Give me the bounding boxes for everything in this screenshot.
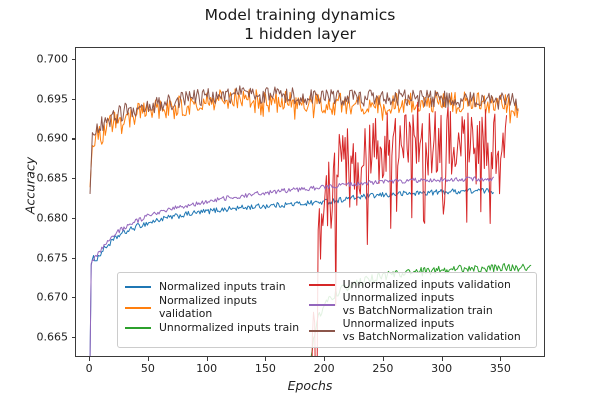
x-tick-label: 0 [66, 362, 112, 375]
legend-label: Unnormalized inputs vs BatchNormalizatio… [343, 318, 521, 343]
legend-color-swatch [309, 304, 335, 306]
legend-color-swatch [309, 284, 335, 286]
y-tick-label: 0.685 [22, 172, 68, 185]
legend-entry[interactable]: Unnormalized inputs train [125, 322, 309, 334]
x-tick-label: 150 [242, 362, 288, 375]
legend-label: Normalized inputs train [159, 281, 286, 293]
chart-title: Model training dynamics 1 hidden layer [0, 6, 600, 44]
legend-entry[interactable]: Unnormalized inputs vs BatchNormalizatio… [309, 292, 529, 317]
legend-label: Unnormalized inputs vs BatchNormalizatio… [343, 292, 493, 317]
legend-entry[interactable]: Normalized inputs validation [125, 295, 309, 320]
legend-color-swatch [125, 307, 151, 309]
x-tick-label: 200 [301, 362, 347, 375]
x-tick-mark [383, 357, 384, 361]
y-tick-label: 0.680 [22, 211, 68, 224]
y-tick-label: 0.675 [22, 251, 68, 264]
x-tick-label: 350 [477, 362, 523, 375]
x-tick-label: 50 [125, 362, 171, 375]
legend-column-right: Unnormalized inputs validationUnnormaliz… [309, 278, 529, 342]
legend-column-left: Normalized inputs trainNormalized inputs… [125, 278, 309, 342]
legend-entry[interactable]: Unnormalized inputs vs BatchNormalizatio… [309, 318, 529, 343]
chart-title-line2: 1 hidden layer [0, 25, 600, 44]
x-tick-label: 250 [360, 362, 406, 375]
y-tick-label: 0.665 [22, 331, 68, 344]
legend-color-swatch [125, 286, 151, 288]
legend-entry[interactable]: Unnormalized inputs validation [309, 279, 529, 291]
legend-label: Unnormalized inputs train [159, 322, 299, 334]
x-tick-mark [500, 357, 501, 361]
x-tick-mark [148, 357, 149, 361]
x-tick-mark [89, 357, 90, 361]
legend-color-swatch [309, 330, 335, 332]
legend-label: Unnormalized inputs validation [343, 279, 511, 291]
x-tick-mark [207, 357, 208, 361]
x-tick-mark [442, 357, 443, 361]
y-tick-label: 0.695 [22, 92, 68, 105]
chart-title-line1: Model training dynamics [205, 6, 396, 24]
x-tick-mark [265, 357, 266, 361]
chart-figure: Model training dynamics 1 hidden layer A… [0, 0, 600, 400]
x-tick-label: 300 [419, 362, 465, 375]
x-tick-label: 100 [184, 362, 230, 375]
x-axis-label: Epochs [75, 378, 545, 393]
x-tick-mark [324, 357, 325, 361]
y-tick-label: 0.700 [22, 52, 68, 65]
legend-entry[interactable]: Normalized inputs train [125, 281, 309, 293]
legend-color-swatch [125, 327, 151, 329]
legend-label: Normalized inputs validation [159, 295, 309, 320]
y-tick-label: 0.670 [22, 291, 68, 304]
y-tick-label: 0.690 [22, 132, 68, 145]
chart-legend: Normalized inputs trainNormalized inputs… [117, 272, 537, 348]
